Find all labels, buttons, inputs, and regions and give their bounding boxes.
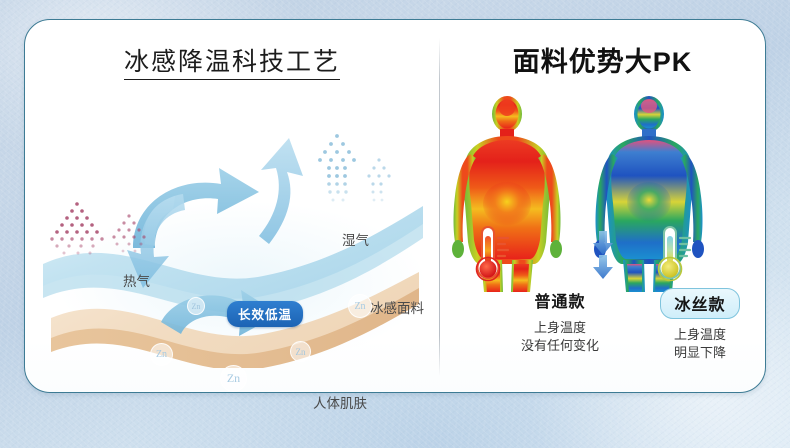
right-panel-title: 面料优势大PK (440, 40, 765, 79)
red-thermometer-icon (477, 227, 509, 281)
column-name-iceslik-badge: 冰丝款 (660, 288, 739, 319)
content-card: 冰感降温科技工艺 (24, 19, 766, 393)
label-fabric: 冰感面料 (370, 297, 424, 317)
moisture-dot-arrows (318, 134, 391, 201)
thermometer-icons-svg (440, 225, 766, 287)
label-moisture: 湿气 (342, 229, 369, 249)
thermometer-row (440, 225, 765, 285)
column-name-normal: 普通款 (485, 288, 635, 312)
left-panel-title: 冰感降温科技工艺 (25, 42, 439, 78)
comparison-column-normal: 普通款 上身温度 没有任何变化 (485, 288, 635, 354)
column-desc-line2-iceslik: 明显下降 (674, 345, 726, 360)
left-panel: 冰感降温科技工艺 (25, 20, 439, 392)
column-desc-line1-normal: 上身温度 (534, 320, 586, 335)
cooling-down-arrows (593, 231, 613, 279)
zinc-mark: Zn (220, 365, 247, 392)
right-panel: 面料优势大PK (440, 20, 765, 392)
screenshot-root: 冰感降温科技工艺 (0, 0, 790, 448)
zinc-mark: Zn (348, 294, 372, 318)
cooling-technology-illustration: 热气 湿气 冰感面料 人体肌肤 长效低温 Zn Zn Zn Zn Zn (37, 98, 429, 368)
label-skin: 人体肌肤 (313, 392, 367, 412)
zinc-mark: Zn (187, 297, 205, 315)
fabric-layers-diagram (37, 98, 429, 368)
label-heat: 热气 (123, 270, 150, 290)
column-desc-line2-normal: 没有任何变化 (521, 338, 599, 353)
yellow-thermometer-icon (659, 227, 691, 281)
column-desc-line1-iceslik: 上身温度 (674, 327, 726, 342)
comparison-column-iceslik: 冰丝款 上身温度 明显下降 (625, 288, 775, 361)
long-lasting-cool-badge: 长效低温 (227, 301, 303, 327)
zinc-mark: Zn (150, 343, 173, 366)
left-panel-title-text: 冰感降温科技工艺 (124, 48, 340, 80)
zinc-mark: Zn (290, 341, 311, 362)
